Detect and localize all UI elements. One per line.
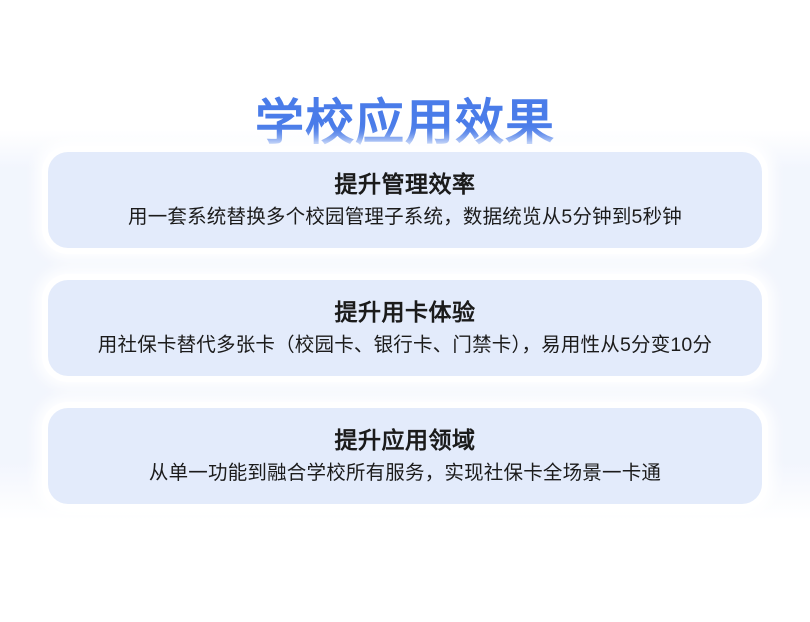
benefit-card-body: 用一套系统替换多个校园管理子系统，数据统览从5分钟到5秒钟 (128, 204, 682, 231)
benefit-card-heading: 提升应用领域 (335, 425, 476, 455)
page-title: 学校应用效果 (0, 94, 810, 152)
benefit-card-list: 提升管理效率 用一套系统替换多个校园管理子系统，数据统览从5分钟到5秒钟 提升用… (42, 146, 768, 530)
benefit-card-surface: 提升管理效率 用一套系统替换多个校园管理子系统，数据统览从5分钟到5秒钟 (48, 152, 762, 248)
benefit-card-body: 从单一功能到融合学校所有服务，实现社保卡全场景一卡通 (149, 460, 661, 487)
benefit-card-body: 用社保卡替代多张卡（校园卡、银行卡、门禁卡），易用性从5分变10分 (98, 332, 712, 359)
benefit-card-heading: 提升管理效率 (335, 169, 476, 199)
benefit-card-surface: 提升用卡体验 用社保卡替代多张卡（校园卡、银行卡、门禁卡），易用性从5分变10分 (48, 280, 762, 376)
benefit-card: 提升应用领域 从单一功能到融合学校所有服务，实现社保卡全场景一卡通 (42, 402, 768, 510)
benefit-card-surface: 提升应用领域 从单一功能到融合学校所有服务，实现社保卡全场景一卡通 (48, 408, 762, 504)
benefit-card: 提升管理效率 用一套系统替换多个校园管理子系统，数据统览从5分钟到5秒钟 (42, 146, 768, 254)
benefit-card-heading: 提升用卡体验 (335, 297, 476, 327)
benefit-card: 提升用卡体验 用社保卡替代多张卡（校园卡、银行卡、门禁卡），易用性从5分变10分 (42, 274, 768, 382)
